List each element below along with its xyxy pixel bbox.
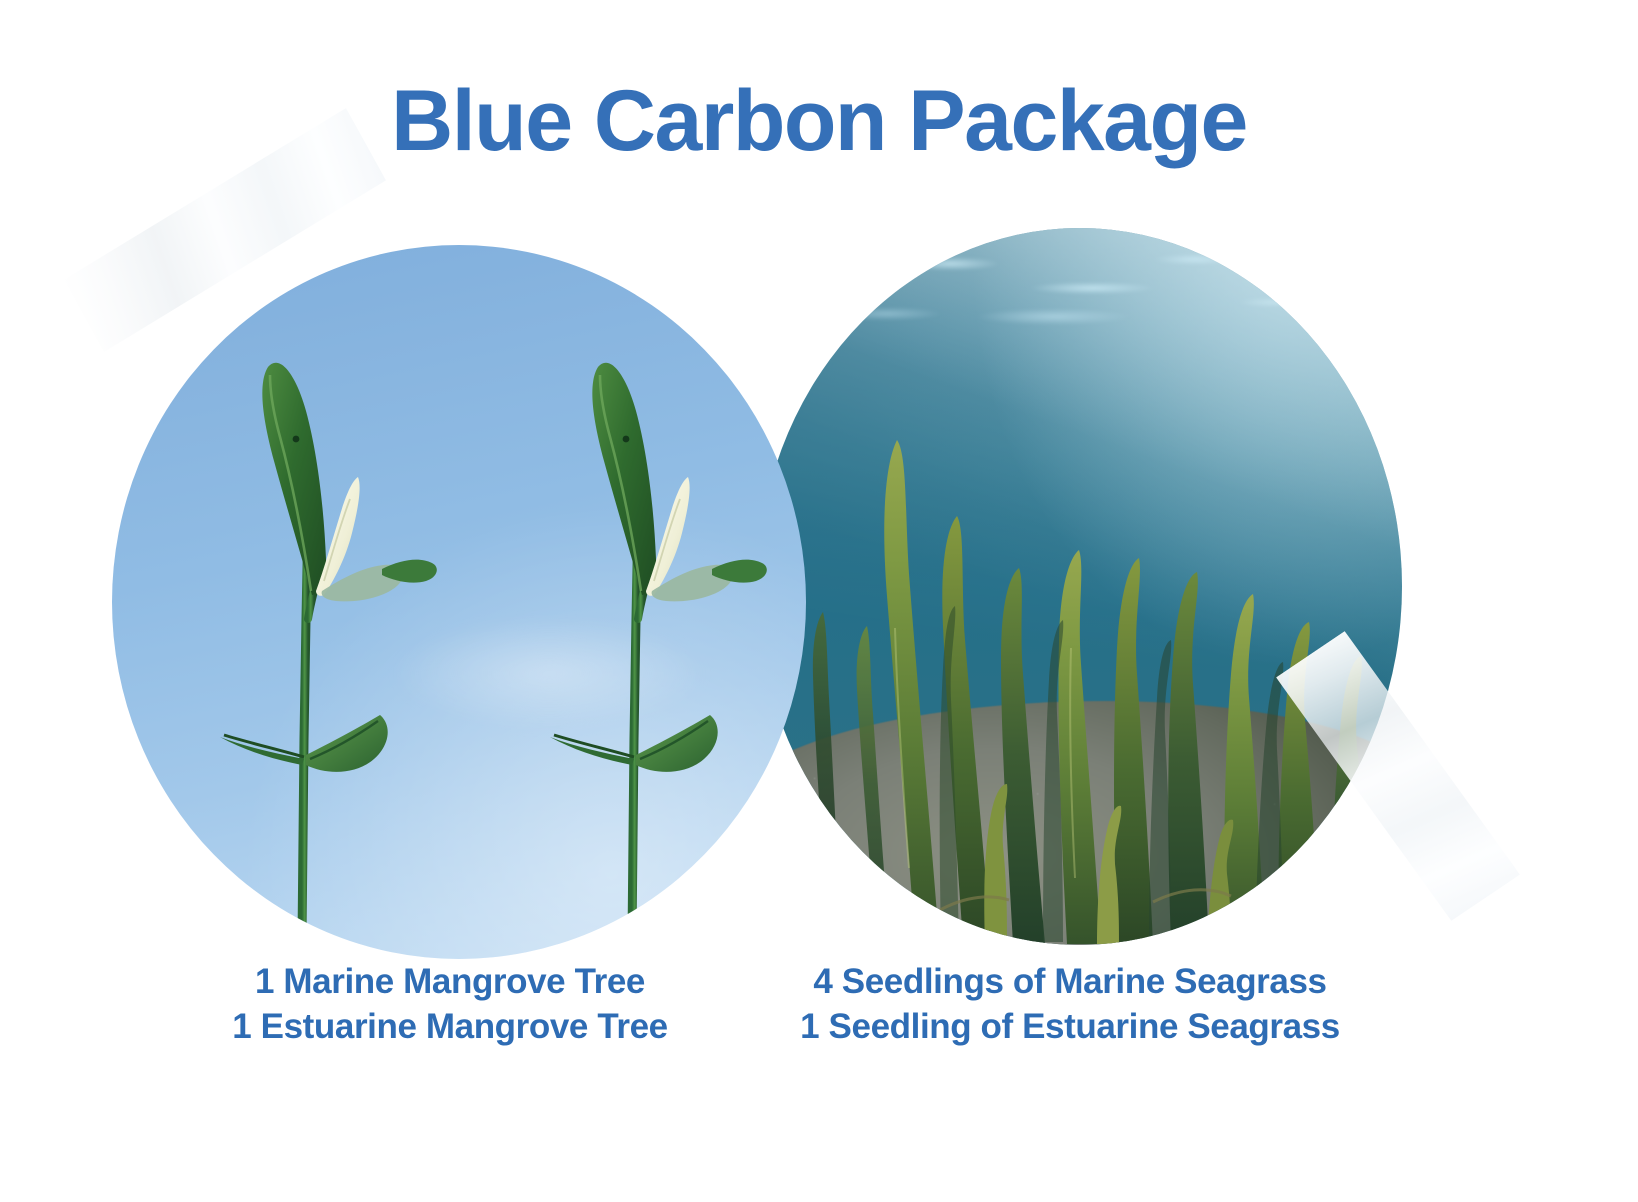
mangrove-caption-line-1: 1 Marine Mangrove Tree xyxy=(130,960,770,1005)
seagrass-image-circle xyxy=(757,228,1402,945)
mangrove-seedling-left xyxy=(154,319,454,959)
poster-canvas: Blue Carbon Package xyxy=(0,0,1638,1202)
seagrass-caption: 4 Seedlings of Marine Seagrass 1 Seedlin… xyxy=(740,960,1400,1050)
seagrass-caption-line-2: 1 Seedling of Estuarine Seagrass xyxy=(740,1005,1400,1050)
mangrove-image-circle xyxy=(112,245,806,959)
mangrove-caption-line-2: 1 Estuarine Mangrove Tree xyxy=(130,1005,770,1050)
seagrass-blades xyxy=(757,228,1402,945)
mangrove-seedling-right xyxy=(484,319,784,959)
mangrove-caption: 1 Marine Mangrove Tree 1 Estuarine Mangr… xyxy=(130,960,770,1050)
seagrass-caption-line-1: 4 Seedlings of Marine Seagrass xyxy=(740,960,1400,1005)
page-title: Blue Carbon Package xyxy=(0,78,1638,164)
